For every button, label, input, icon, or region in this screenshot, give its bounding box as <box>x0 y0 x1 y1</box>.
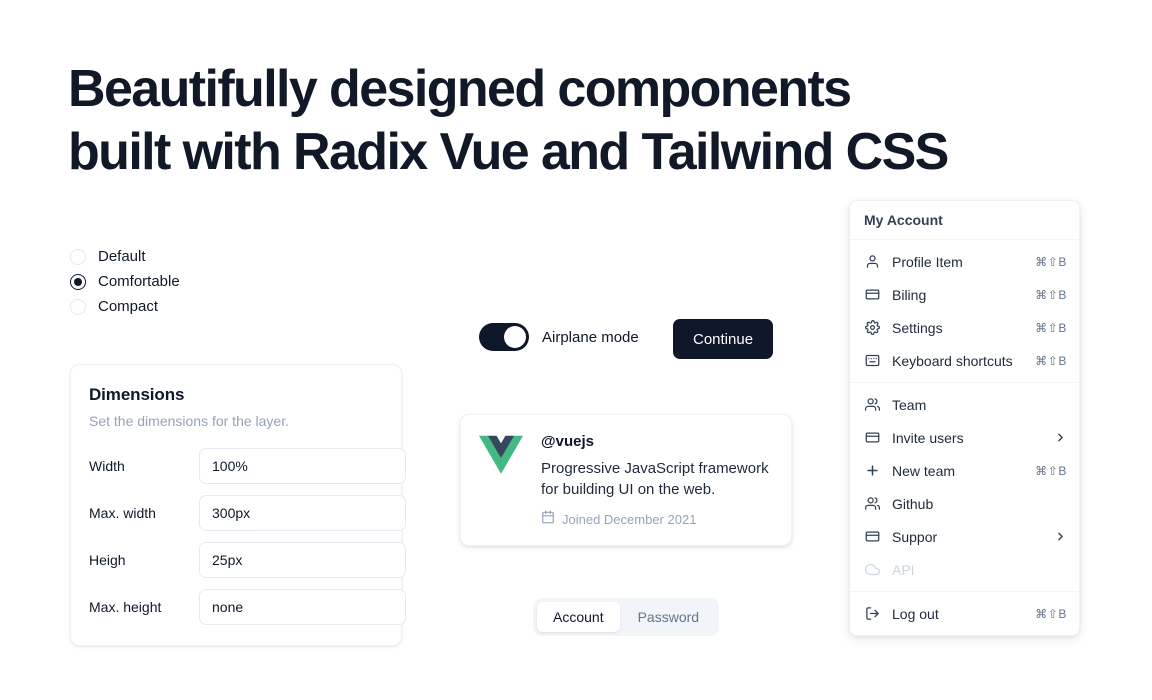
label-height: Heigh <box>89 552 199 568</box>
continue-button[interactable]: Continue <box>673 319 773 359</box>
menu-item-label: Github <box>892 496 1055 512</box>
switch-knob <box>504 326 526 348</box>
menu-item-log-out[interactable]: Log out ⌘⇧B <box>850 597 1079 630</box>
label-width: Width <box>89 458 199 474</box>
menu-item-github[interactable]: Github <box>850 487 1079 520</box>
dimensions-card: Dimensions Set the dimensions for the la… <box>70 364 402 646</box>
menu-item-label: Invite users <box>892 430 1042 446</box>
input-max-height[interactable] <box>199 589 406 625</box>
calendar-icon <box>541 510 555 529</box>
hover-card-description: Progressive JavaScript framework for bui… <box>541 458 773 500</box>
menu-item-settings[interactable]: Settings ⌘⇧B <box>850 311 1079 344</box>
menu-item-shortcut: ⌘⇧B <box>1035 354 1067 368</box>
menu-item-label: API <box>892 562 1055 578</box>
radio-label-comfortable: Comfortable <box>98 273 180 290</box>
menu-group-session: Log out ⌘⇧B <box>850 592 1079 635</box>
radio-label-compact: Compact <box>98 298 158 315</box>
menu-item-invite-users[interactable]: Invite users <box>850 421 1079 454</box>
dimensions-subtitle: Set the dimensions for the layer. <box>89 413 383 429</box>
users-icon <box>864 496 880 512</box>
menu-item-new-team[interactable]: New team ⌘⇧B <box>850 454 1079 487</box>
dimensions-row-width: Width <box>89 448 383 484</box>
cloud-icon <box>864 562 880 578</box>
gear-icon <box>864 320 880 336</box>
airplane-mode-row: Airplane mode <box>479 323 639 351</box>
chevron-right-icon <box>1054 530 1067 543</box>
page-title: Beautifully designed components built wi… <box>68 58 1008 184</box>
menu-item-label: Profile Item <box>892 254 1023 270</box>
input-width[interactable] <box>199 448 406 484</box>
label-max-width: Max. width <box>89 505 199 521</box>
credit-card-icon <box>864 430 880 446</box>
radio-indicator-compact[interactable] <box>70 299 86 315</box>
radio-option-default[interactable]: Default <box>70 248 180 265</box>
radio-option-comfortable[interactable]: Comfortable <box>70 273 180 290</box>
hover-card-joined: Joined December 2021 <box>541 510 773 529</box>
page-root: Beautifully designed components built wi… <box>0 0 1152 700</box>
input-height[interactable] <box>199 542 406 578</box>
users-icon <box>864 397 880 413</box>
credit-card-icon <box>864 529 880 545</box>
hover-card-body: @vuejs Progressive JavaScript framework … <box>541 433 773 529</box>
menu-item-api: API <box>850 553 1079 586</box>
menu-item-label: New team <box>892 463 1023 479</box>
chevron-right-icon <box>1054 431 1067 444</box>
menu-item-label: Biling <box>892 287 1023 303</box>
hover-card-handle: @vuejs <box>541 433 773 450</box>
menu-item-profile[interactable]: Profile Item ⌘⇧B <box>850 245 1079 278</box>
menu-group-team: Team Invite users New team ⌘⇧B <box>850 383 1079 591</box>
logout-icon <box>864 606 880 622</box>
radio-option-compact[interactable]: Compact <box>70 298 180 315</box>
dimensions-row-max-height: Max. height <box>89 589 383 625</box>
menu-item-shortcut: ⌘⇧B <box>1035 255 1067 269</box>
menu-item-shortcut: ⌘⇧B <box>1035 288 1067 302</box>
menu-item-shortcut: ⌘⇧B <box>1035 321 1067 335</box>
vue-logo-icon <box>479 435 523 475</box>
menu-item-label: Log out <box>892 606 1023 622</box>
menu-item-shortcut: ⌘⇧B <box>1035 607 1067 621</box>
dimensions-title: Dimensions <box>89 385 383 405</box>
account-dropdown-menu: My Account Profile Item ⌘⇧B Biling ⌘⇧B <box>849 200 1080 636</box>
profile-hover-card: @vuejs Progressive JavaScript framework … <box>460 414 792 546</box>
menu-item-label: Settings <box>892 320 1023 336</box>
menu-group-account: Profile Item ⌘⇧B Biling ⌘⇧B Settings ⌘⇧B <box>850 240 1079 382</box>
menu-item-shortcut: ⌘⇧B <box>1035 464 1067 478</box>
menu-item-team[interactable]: Team <box>850 388 1079 421</box>
page-title-line-1: Beautifully designed components <box>68 58 1008 121</box>
hover-card-joined-text: Joined December 2021 <box>562 512 696 527</box>
menu-header: My Account <box>850 201 1079 239</box>
plus-icon <box>864 463 880 479</box>
menu-item-label: Team <box>892 397 1055 413</box>
tab-account[interactable]: Account <box>537 602 620 632</box>
tab-password[interactable]: Password <box>622 602 715 632</box>
radio-indicator-default[interactable] <box>70 249 86 265</box>
menu-item-label: Suppor <box>892 529 1042 545</box>
settings-tabs: Account Password <box>533 598 719 636</box>
radio-label-default: Default <box>98 248 146 265</box>
airplane-mode-label: Airplane mode <box>542 329 639 346</box>
menu-item-support[interactable]: Suppor <box>850 520 1079 553</box>
page-title-line-2: built with Radix Vue and Tailwind CSS <box>68 121 1008 184</box>
airplane-mode-switch[interactable] <box>479 323 529 351</box>
dimensions-row-height: Heigh <box>89 542 383 578</box>
menu-item-label: Keyboard shortcuts <box>892 353 1023 369</box>
input-max-width[interactable] <box>199 495 406 531</box>
dimensions-field-list: Width Max. width Heigh Max. height <box>89 448 383 625</box>
menu-item-keyboard-shortcuts[interactable]: Keyboard shortcuts ⌘⇧B <box>850 344 1079 377</box>
credit-card-icon <box>864 287 880 303</box>
keyboard-icon <box>864 353 880 369</box>
menu-item-billing[interactable]: Biling ⌘⇧B <box>850 278 1079 311</box>
radio-indicator-comfortable[interactable] <box>70 274 86 290</box>
user-icon <box>864 254 880 270</box>
density-radio-group: Default Comfortable Compact <box>70 248 180 315</box>
label-max-height: Max. height <box>89 599 199 615</box>
dimensions-row-max-width: Max. width <box>89 495 383 531</box>
